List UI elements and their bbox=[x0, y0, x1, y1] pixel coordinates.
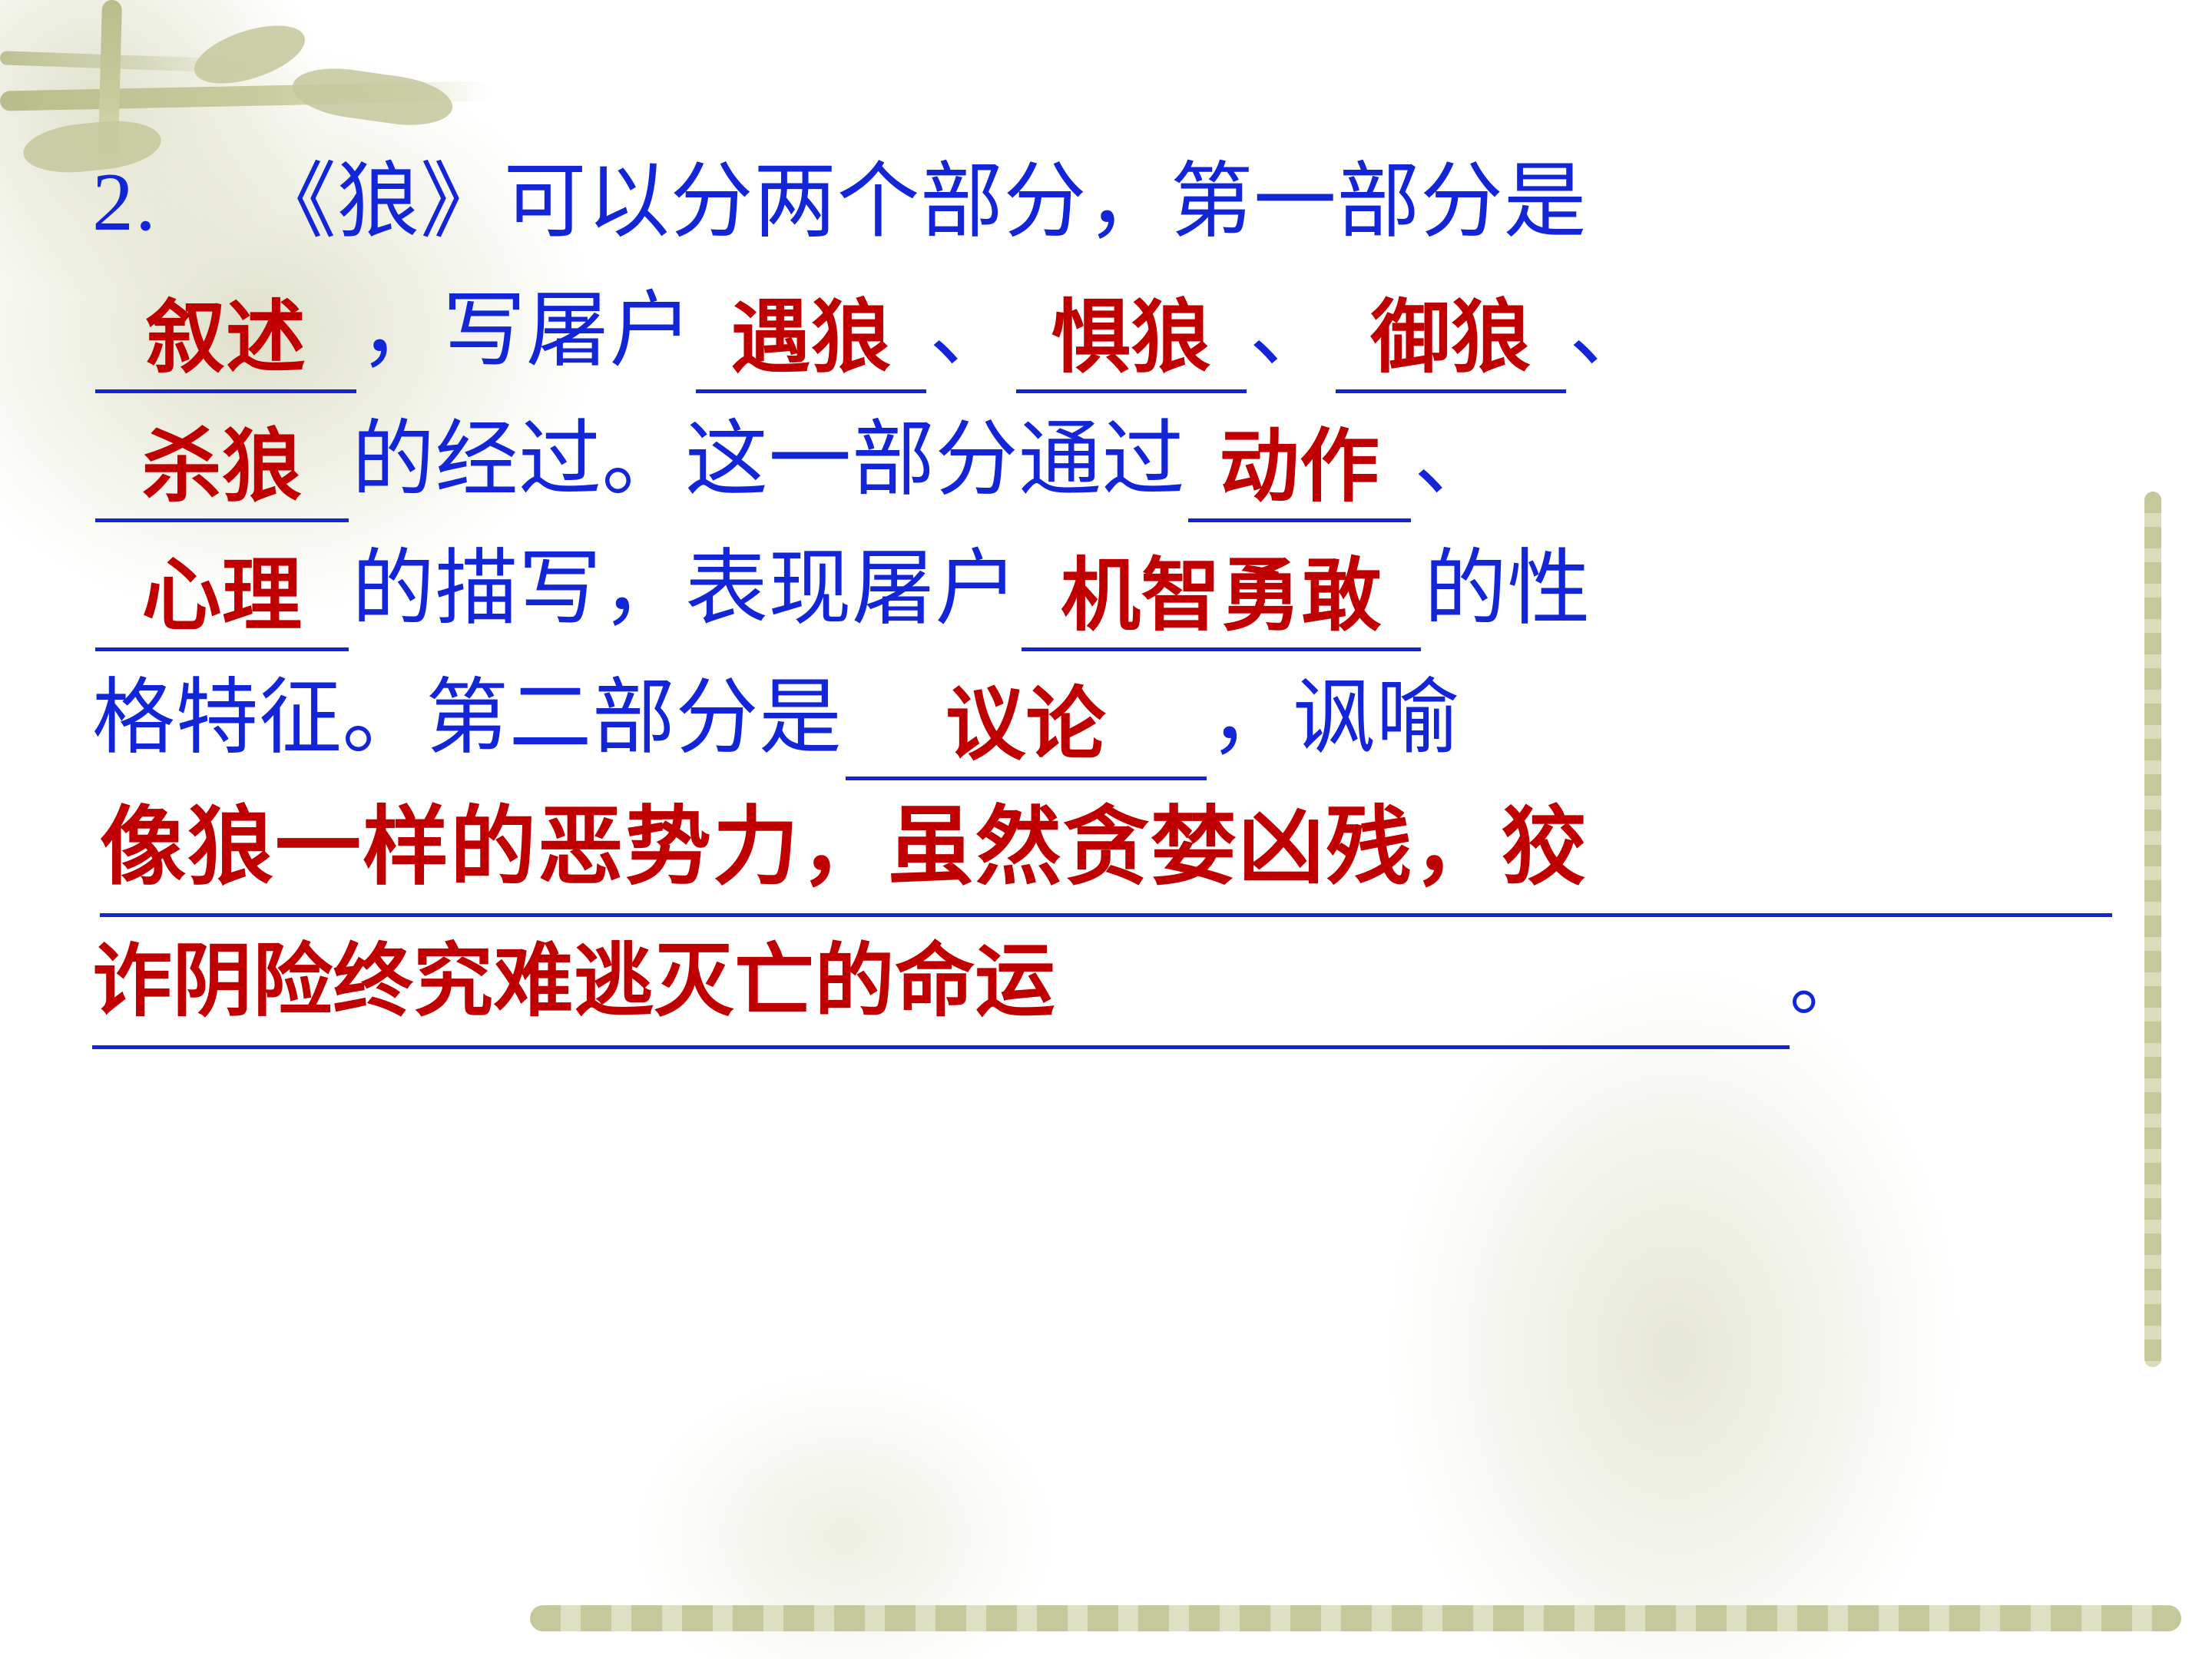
blank-6[interactable]: 动作 bbox=[1188, 402, 1411, 522]
line-2-separator-3: 、 bbox=[1569, 286, 1653, 377]
blank-4-answer: 御狼 bbox=[1371, 290, 1532, 384]
line-3-text-a: 的经过。这一部分通过 bbox=[352, 415, 1185, 506]
question-line-5: 格特征。第二部分是议论，讽喻 bbox=[92, 654, 2112, 783]
question-line-4: 心理的描写，表现屠户机智勇敢的性 bbox=[92, 525, 2112, 654]
question-line-2: 叙述，写屠户遇狼、惧狼、御狼、 bbox=[92, 267, 2112, 396]
blank-3-answer: 惧狼 bbox=[1051, 290, 1211, 384]
line-5-text-b: ，讽喻 bbox=[1210, 673, 1460, 764]
blank-2[interactable]: 遇狼 bbox=[696, 273, 926, 393]
question-line-3: 杀狼的经过。这一部分通过动作、 bbox=[92, 396, 2112, 525]
line-3-separator-1: 、 bbox=[1414, 415, 1498, 506]
blank-1[interactable]: 叙述 bbox=[95, 273, 356, 393]
blank-2-answer: 遇狼 bbox=[731, 290, 892, 384]
slide-content: 2. 《狼》可以分两个部分，第一部分是 叙述，写屠户遇狼、惧狼、御狼、 杀狼的经… bbox=[0, 0, 2212, 1049]
blank-6-answer: 动作 bbox=[1220, 419, 1380, 513]
blank-5[interactable]: 杀狼 bbox=[95, 402, 349, 522]
question-line-7: 诈阴险终究难逃灭亡的命运。 bbox=[92, 917, 2112, 1049]
line-5-text-a: 格特征。第二部分是 bbox=[92, 673, 843, 764]
blank-4[interactable]: 御狼 bbox=[1336, 273, 1566, 393]
blank-7-answer: 心理 bbox=[141, 548, 302, 642]
blank-8[interactable]: 机智勇敢 bbox=[1022, 531, 1421, 651]
blank-9[interactable]: 议论 bbox=[846, 661, 1207, 780]
question-line-1: 2. 《狼》可以分两个部分，第一部分是 bbox=[92, 138, 2112, 267]
line-2-text-a: ，写屠户 bbox=[359, 286, 693, 377]
final-period: 。 bbox=[1790, 942, 1864, 1025]
blank-1-answer: 叙述 bbox=[145, 290, 306, 384]
line-4-text-a: 的描写，表现屠户 bbox=[352, 544, 1018, 635]
blank-9-answer: 议论 bbox=[945, 677, 1106, 771]
question-number: 2. bbox=[92, 157, 157, 248]
line-4-text-b: 的性 bbox=[1424, 544, 1591, 635]
blank-3[interactable]: 惧狼 bbox=[1016, 273, 1247, 393]
question-line-1-text: 《狼》可以分两个部分，第一部分是 bbox=[253, 157, 1587, 248]
ornament-bottom-border bbox=[530, 1605, 2181, 1631]
blank-10-line-1[interactable]: 像狼一样的恶势力，虽然贪婪凶残，狡 bbox=[100, 783, 2112, 917]
blank-10-answer-part-1: 像狼一样的恶势力，虽然贪婪凶残，狡 bbox=[100, 797, 1588, 897]
blank-7[interactable]: 心理 bbox=[95, 531, 349, 651]
blank-5-answer: 杀狼 bbox=[141, 419, 302, 513]
blank-8-answer: 机智勇敢 bbox=[1061, 548, 1382, 642]
blank-10-answer-part-2: 诈阴险终究难逃灭亡的命运 bbox=[92, 934, 1055, 1028]
blank-10-line-2[interactable]: 诈阴险终究难逃灭亡的命运 bbox=[92, 917, 1790, 1049]
line-2-separator-2: 、 bbox=[1250, 286, 1333, 377]
line-2-separator-1: 、 bbox=[929, 286, 1013, 377]
